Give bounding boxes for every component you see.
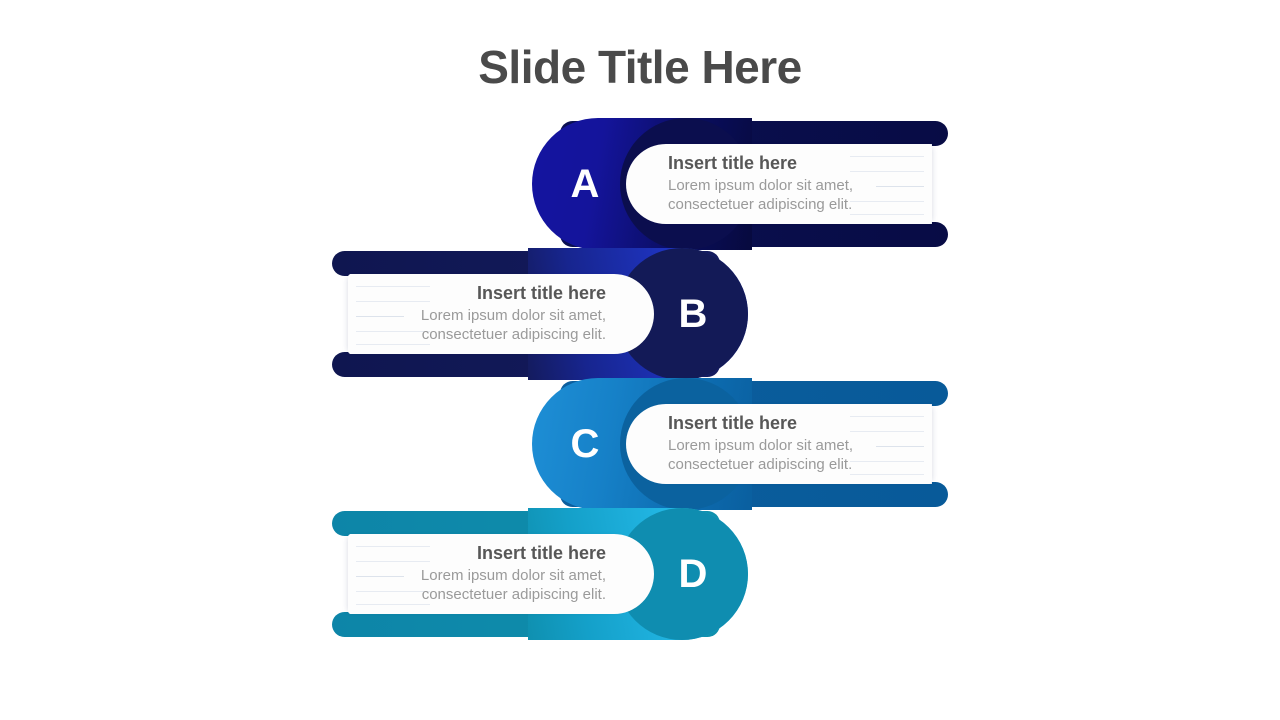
item-title: Insert title here	[668, 152, 914, 174]
slide-canvas: Slide Title Here A Insert title here Lor…	[0, 0, 1280, 720]
info-row-b[interactable]: B Insert title here Lorem ipsum dolor si…	[0, 248, 1280, 380]
step-letter-d: D	[648, 508, 738, 640]
item-body: Lorem ipsum dolor sit amet, consectetuer…	[360, 566, 606, 604]
row-text-b: Insert title here Lorem ipsum dolor sit …	[360, 282, 606, 344]
item-body: Lorem ipsum dolor sit amet, consectetuer…	[668, 436, 914, 474]
item-body: Lorem ipsum dolor sit amet, consectetuer…	[668, 176, 914, 214]
info-row-a[interactable]: A Insert title here Lorem ipsum dolor si…	[0, 118, 1280, 250]
info-row-d[interactable]: D Insert title here Lorem ipsum dolor si…	[0, 508, 1280, 640]
item-title: Insert title here	[360, 542, 606, 564]
step-letter-b: B	[648, 248, 738, 380]
page-title: Slide Title Here	[0, 40, 1280, 94]
item-title: Insert title here	[360, 282, 606, 304]
row-text-d: Insert title here Lorem ipsum dolor sit …	[360, 542, 606, 604]
item-title: Insert title here	[668, 412, 914, 434]
info-row-c[interactable]: C Insert title here Lorem ipsum dolor si…	[0, 378, 1280, 510]
item-body: Lorem ipsum dolor sit amet, consectetuer…	[360, 306, 606, 344]
row-text-a: Insert title here Lorem ipsum dolor sit …	[668, 152, 914, 214]
step-letter-a: A	[540, 118, 630, 250]
step-letter-c: C	[540, 378, 630, 510]
row-text-c: Insert title here Lorem ipsum dolor sit …	[668, 412, 914, 474]
